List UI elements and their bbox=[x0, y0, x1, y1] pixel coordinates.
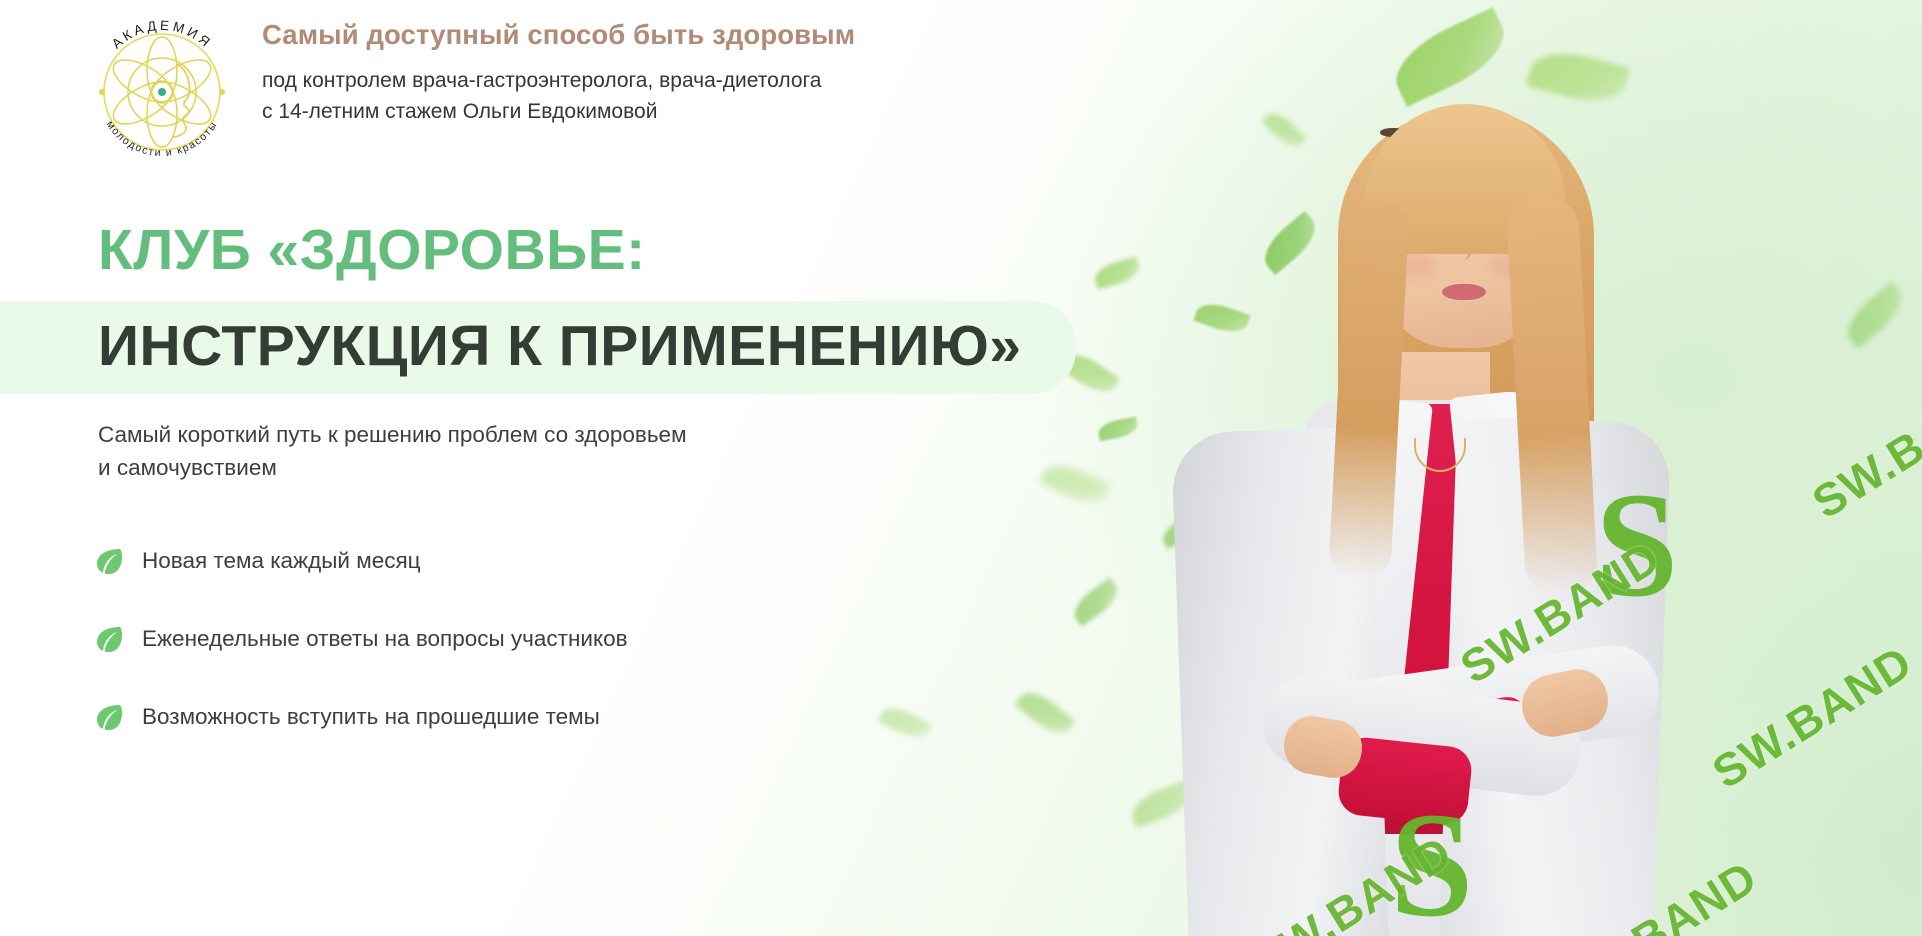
svg-text:молодости и красоты: молодости и красоты bbox=[104, 119, 220, 159]
portrait-nose bbox=[1456, 240, 1472, 260]
feature-item-label: Еженедельные ответы на вопросы участнико… bbox=[142, 624, 628, 653]
leaf-decoration bbox=[1248, 663, 1323, 707]
portrait-cuff-left bbox=[1336, 735, 1473, 826]
portrait-cheek-left bbox=[1396, 252, 1436, 278]
lead-line-1: Самый короткий путь к решению проблем со… bbox=[98, 418, 858, 451]
leaf-decoration bbox=[1256, 211, 1324, 275]
portrait-hand-left bbox=[1516, 664, 1613, 743]
header-subtitle: под контролем врача-гастроэнтеролога, вр… bbox=[262, 65, 1022, 127]
leaf-decoration bbox=[1127, 780, 1197, 828]
portrait-necklace bbox=[1414, 438, 1466, 472]
portrait-shirt bbox=[1362, 404, 1510, 834]
portrait-eye-left-spacer bbox=[1380, 128, 1406, 137]
portrait-arm-right bbox=[1325, 639, 1665, 776]
leaf-decoration bbox=[1261, 107, 1306, 152]
portrait-lips bbox=[1442, 284, 1486, 300]
portrait-neck bbox=[1386, 352, 1490, 462]
feature-item-label: Возможность вступить на прошедшие темы bbox=[142, 702, 600, 731]
watermark-text: SW.BAND bbox=[1451, 530, 1670, 695]
portrait-lapel-right bbox=[1449, 388, 1579, 726]
doctor-portrait bbox=[1062, 0, 1922, 936]
leaf-icon bbox=[94, 546, 124, 576]
portrait-arm-left bbox=[1258, 671, 1587, 801]
feature-item: Новая тема каждый месяц bbox=[94, 522, 874, 600]
leaf-decoration bbox=[1014, 684, 1075, 741]
header-block: Самый доступный способ быть здоровым под… bbox=[262, 18, 1022, 128]
portrait-eye-left bbox=[1410, 224, 1436, 233]
leaf-decoration bbox=[1097, 417, 1140, 442]
leaf-decoration bbox=[1158, 510, 1206, 549]
hero-title-line-2: ИНСТРУКЦИЯ К ПРИМЕНЕНИЮ» bbox=[98, 318, 1022, 375]
portrait-brow-left bbox=[1408, 203, 1442, 212]
leaf-decoration bbox=[1526, 43, 1630, 110]
leaf-decoration bbox=[1384, 7, 1516, 107]
header-subtitle-line-2: с 14-летним стажем Ольги Евдокимовой bbox=[262, 96, 1022, 127]
leaf-decoration bbox=[1193, 298, 1250, 338]
watermark-logo: S bbox=[1390, 790, 1473, 936]
leaf-decoration bbox=[1039, 457, 1111, 510]
portrait-coat-right bbox=[1439, 416, 1671, 936]
watermark-text: SW.BAND bbox=[1803, 365, 1922, 530]
header-title: Самый доступный способ быть здоровым bbox=[262, 18, 1022, 52]
academy-logo: АКАДЕМИЯ молодости и красоты bbox=[78, 8, 246, 176]
feature-list: Новая тема каждый месяцЕженедельные отве… bbox=[94, 522, 874, 756]
feature-item: Еженедельные ответы на вопросы участнико… bbox=[94, 600, 874, 678]
portrait-hair-top bbox=[1364, 104, 1566, 254]
hero-title-line-1: КЛУБ «ЗДОРОВЬЕ: bbox=[0, 222, 1100, 279]
watermark-text: SW.BAND bbox=[1548, 850, 1767, 936]
portrait-cheek-right bbox=[1490, 252, 1530, 278]
portrait-coat-center bbox=[1304, 400, 1554, 936]
logo-mark-icon: АКАДЕМИЯ молодости и красоты bbox=[78, 8, 246, 176]
hero-title-pill: ИНСТРУКЦИЯ К ПРИМЕНЕНИЮ» bbox=[0, 301, 1076, 394]
portrait-eye-right bbox=[1488, 224, 1514, 233]
portrait-hand-right bbox=[1280, 712, 1367, 783]
portrait-hair-strand-left bbox=[1328, 199, 1410, 582]
portrait-head bbox=[1380, 128, 1548, 348]
logo-bottom-text: молодости и красоты bbox=[104, 119, 220, 159]
promo-banner: АКАДЕМИЯ молодости и красоты Самый досту… bbox=[0, 0, 1922, 936]
leaf-icon bbox=[94, 702, 124, 732]
feature-item-label: Новая тема каждый месяц bbox=[142, 546, 421, 575]
leaf-decoration bbox=[1285, 528, 1372, 585]
leaf-decoration bbox=[1068, 577, 1124, 626]
leaf-icon bbox=[94, 624, 124, 654]
watermark-text: SW.BAND bbox=[1703, 635, 1922, 800]
leaf-decoration bbox=[878, 702, 932, 745]
lead-paragraph: Самый короткий путь к решению проблем со… bbox=[98, 418, 858, 485]
portrait-hair-strand-right bbox=[1506, 194, 1599, 597]
leaf-decoration bbox=[1336, 827, 1433, 891]
header-subtitle-line-1: под контролем врача-гастроэнтеролога, вр… bbox=[262, 65, 1022, 96]
hero-heading: КЛУБ «ЗДОРОВЬЕ: ИНСТРУКЦИЯ К ПРИМЕНЕНИЮ» bbox=[0, 222, 1100, 394]
portrait-lapel-left bbox=[1307, 394, 1433, 732]
portrait-cuff-right bbox=[1449, 694, 1535, 772]
watermark-logo: S bbox=[1595, 470, 1678, 620]
feature-item: Возможность вступить на прошедшие темы bbox=[94, 678, 874, 756]
leaf-decoration bbox=[1839, 281, 1912, 349]
portrait-brow-right bbox=[1484, 203, 1518, 212]
lead-line-2: и самочувствием bbox=[98, 451, 858, 484]
portrait-hair-back bbox=[1338, 108, 1594, 578]
portrait-coat-left bbox=[1171, 427, 1389, 936]
watermark-text: SW.BAND bbox=[1243, 825, 1462, 936]
